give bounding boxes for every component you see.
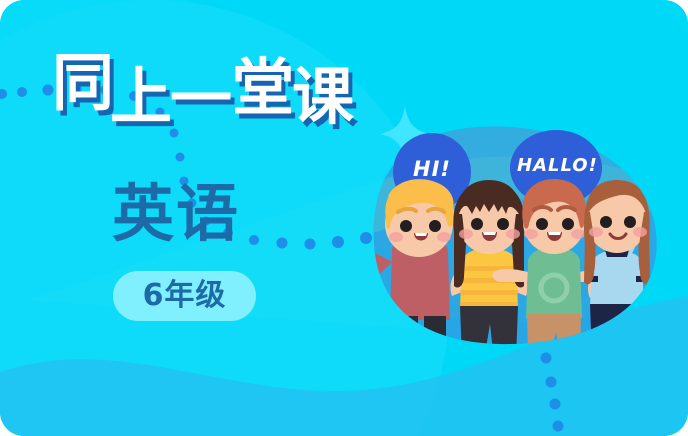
speech-bubble-hi-text: HI! (405, 157, 459, 181)
course-banner: HI! HALLO! 同 上 一 堂 课 英语 6年级 (0, 0, 688, 436)
speech-bubble-hallo-text: HALLO! (517, 155, 595, 176)
grade-badge: 6年级 (113, 271, 256, 321)
title-char-3: 堂 (232, 57, 294, 119)
child-girl-auburn (584, 180, 650, 358)
title-char-0: 同 (52, 52, 114, 114)
title-char-1: 上 (110, 66, 172, 128)
title-char-2: 一 (170, 68, 232, 130)
subject-title: 英语 (112, 183, 240, 245)
page-title: 同 上 一 堂 课 (52, 52, 352, 136)
title-char-4: 课 (292, 66, 354, 128)
title-block: 同 上 一 堂 课 英语 6年级 (0, 0, 360, 436)
grade-badge-label: 6年级 (143, 281, 227, 311)
